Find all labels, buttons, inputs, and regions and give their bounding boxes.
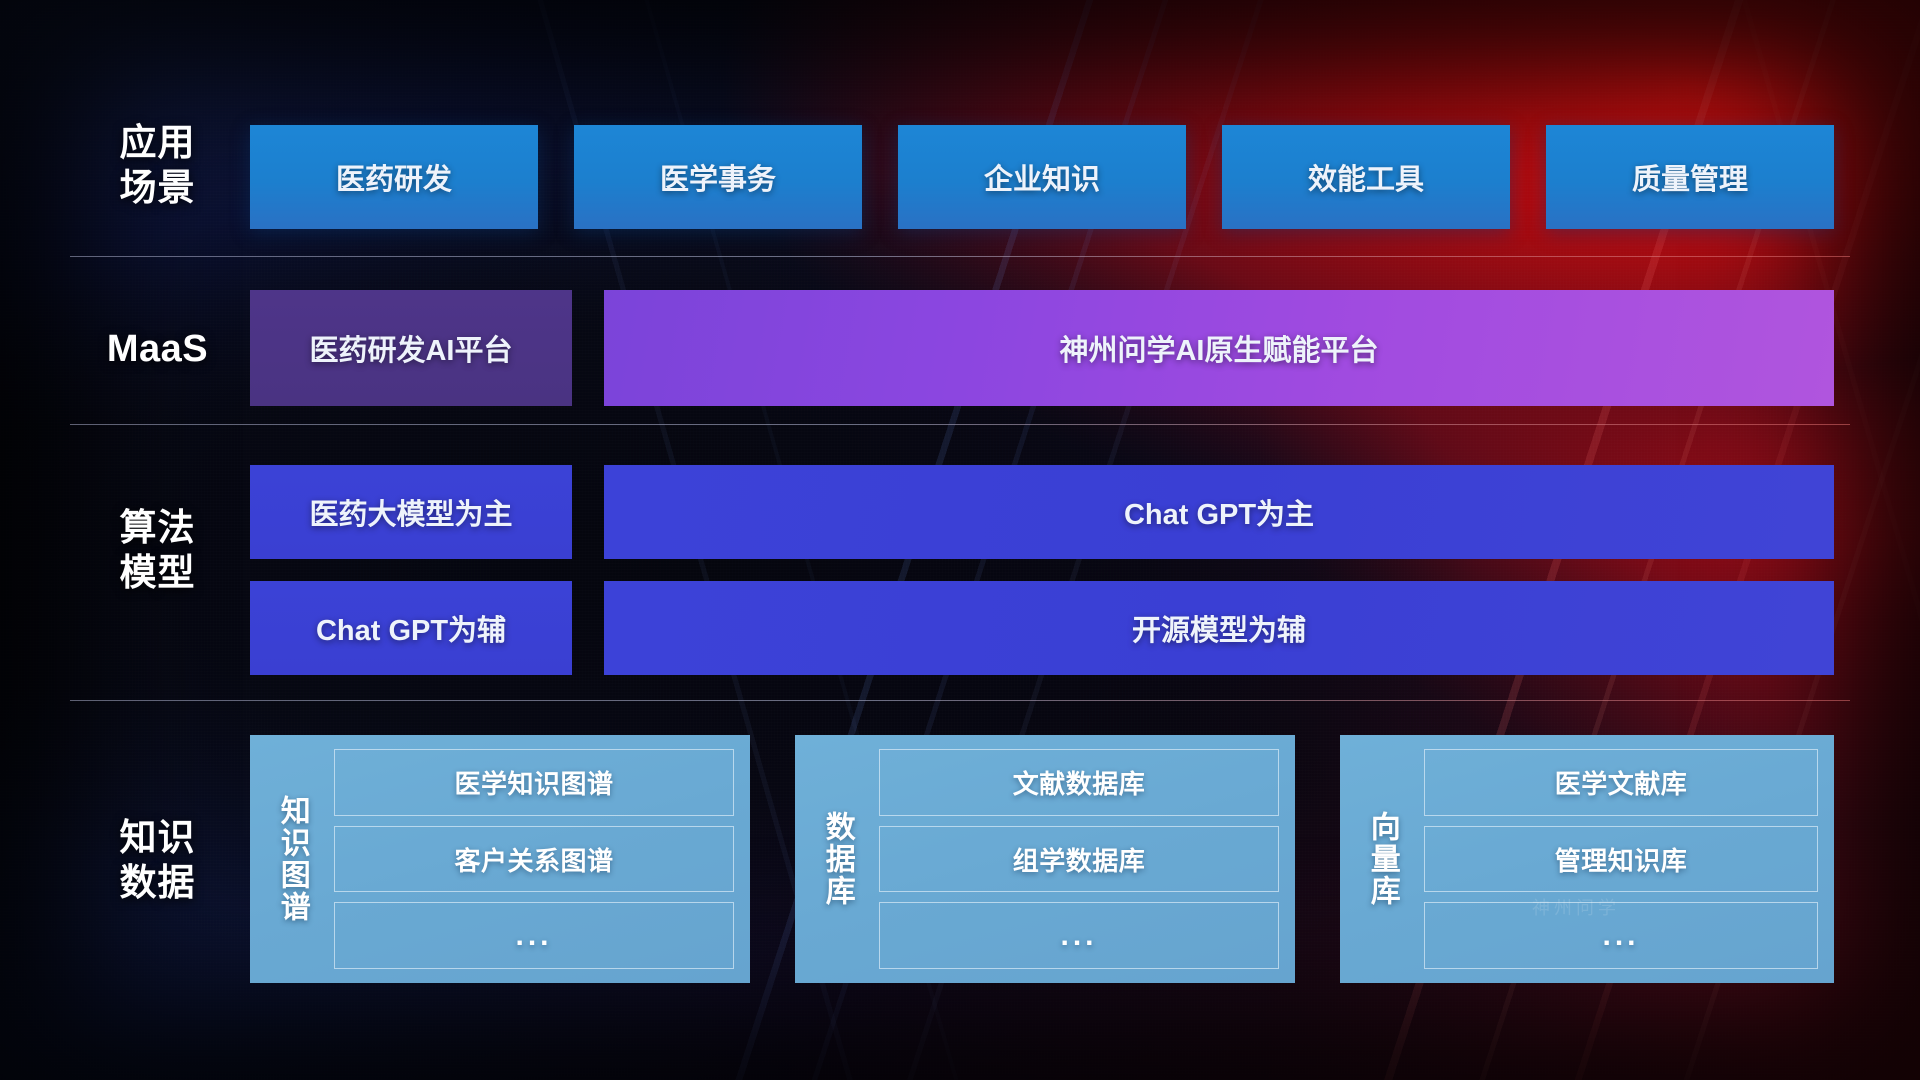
algorithm-label-primary-right: Chat GPT为主 [1124, 491, 1314, 533]
app-scenario-box-2[interactable]: 医学事务 [574, 125, 862, 229]
algorithm-label-primary-left: 医药大模型为主 [309, 491, 512, 533]
maas-platform-box-right[interactable]: 神州问学AI原生赋能平台 [604, 290, 1834, 406]
row-label-application: 应用 场景 [70, 120, 245, 210]
algorithm-label-secondary-right: 开源模型为辅 [1132, 607, 1306, 649]
algorithm-box-secondary-right[interactable]: 开源模型为辅 [604, 581, 1834, 675]
knowledge-panel-vector[interactable]: 向量库 医学文献库 管理知识库 ... [1340, 735, 1834, 983]
knowledge-item-database-3[interactable]: ... [879, 902, 1279, 969]
knowledge-item-vector-2[interactable]: 管理知识库 [1424, 826, 1818, 893]
row-label-knowledge: 知识 数据 [70, 815, 245, 905]
knowledge-panel-vector-items: 医学文献库 管理知识库 ... [1424, 749, 1818, 969]
knowledge-panel-database-title: 数据库 [795, 749, 879, 969]
app-scenario-box-4[interactable]: 效能工具 [1222, 125, 1510, 229]
app-scenario-box-1[interactable]: 医药研发 [250, 125, 538, 229]
knowledge-panel-graph[interactable]: 知识图谱 医学知识图谱 客户关系图谱 ... [250, 735, 750, 983]
app-scenario-label-3: 企业知识 [984, 156, 1100, 198]
row-label-maas: MaaS [70, 326, 245, 372]
maas-platform-box-left[interactable]: 医药研发AI平台 [250, 290, 572, 406]
knowledge-panel-database-items: 文献数据库 组学数据库 ... [879, 749, 1279, 969]
knowledge-item-database-1[interactable]: 文献数据库 [879, 749, 1279, 816]
app-scenario-box-3[interactable]: 企业知识 [898, 125, 1186, 229]
divider-maas-algorithm [70, 424, 1850, 425]
app-scenario-label-1: 医药研发 [336, 156, 452, 198]
algorithm-box-secondary-left[interactable]: Chat GPT为辅 [250, 581, 572, 675]
app-scenario-box-5[interactable]: 质量管理 [1546, 125, 1834, 229]
knowledge-panel-graph-items: 医学知识图谱 客户关系图谱 ... [334, 749, 734, 969]
algorithm-box-primary-left[interactable]: 医药大模型为主 [250, 465, 572, 559]
maas-platform-label-right: 神州问学AI原生赋能平台 [1059, 327, 1378, 369]
knowledge-panel-vector-title: 向量库 [1340, 749, 1424, 969]
app-scenario-label-2: 医学事务 [660, 156, 776, 198]
row-label-algorithm: 算法 模型 [70, 505, 245, 595]
knowledge-item-vector-1[interactable]: 医学文献库 [1424, 749, 1818, 816]
knowledge-item-graph-2[interactable]: 客户关系图谱 [334, 826, 734, 893]
maas-platform-label-left: 医药研发AI平台 [309, 327, 512, 369]
diagram-content: 应用 场景 医药研发 医学事务 企业知识 效能工具 质量管理 MaaS 医药研发… [0, 0, 1920, 1080]
app-scenario-label-5: 质量管理 [1632, 156, 1748, 198]
divider-algorithm-knowledge [70, 700, 1850, 701]
divider-application-maas [70, 256, 1850, 257]
knowledge-panel-graph-title: 知识图谱 [250, 749, 334, 969]
knowledge-item-graph-3[interactable]: ... [334, 902, 734, 969]
diagram-canvas: 应用 场景 医药研发 医学事务 企业知识 效能工具 质量管理 MaaS 医药研发… [0, 0, 1920, 1080]
knowledge-item-database-2[interactable]: 组学数据库 [879, 826, 1279, 893]
app-scenario-label-4: 效能工具 [1308, 156, 1424, 198]
knowledge-item-graph-1[interactable]: 医学知识图谱 [334, 749, 734, 816]
knowledge-item-vector-3[interactable]: ... [1424, 902, 1818, 969]
algorithm-box-primary-right[interactable]: Chat GPT为主 [604, 465, 1834, 559]
algorithm-label-secondary-left: Chat GPT为辅 [316, 607, 506, 649]
knowledge-panel-database[interactable]: 数据库 文献数据库 组学数据库 ... [795, 735, 1295, 983]
